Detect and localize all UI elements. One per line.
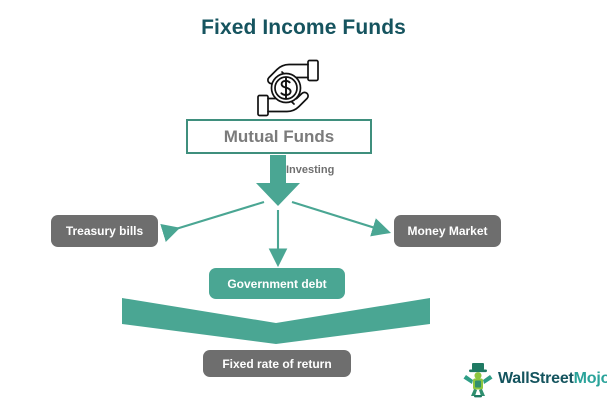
hands-holding-dollar-icon bbox=[252, 57, 324, 119]
logo-text: WallStreetMojo bbox=[498, 370, 607, 388]
node-government-debt[interactable]: Government debt bbox=[209, 268, 345, 299]
node-money-market-label: Money Market bbox=[407, 224, 487, 238]
node-treasury-bills-label: Treasury bills bbox=[66, 224, 143, 238]
connector-label-investing: Investing bbox=[286, 164, 334, 176]
logo-text-primary: WallStreet bbox=[498, 370, 574, 387]
node-fixed-rate-of-return[interactable]: Fixed rate of return bbox=[203, 350, 351, 377]
wallstreetmojo-logo[interactable]: WallStreetMojo bbox=[461, 361, 601, 399]
node-fixed-rate-of-return-label: Fixed rate of return bbox=[222, 357, 331, 371]
page-title: Fixed Income Funds bbox=[0, 16, 607, 40]
node-government-debt-label: Government debt bbox=[227, 277, 326, 291]
node-mutual-funds[interactable]: Mutual Funds bbox=[186, 119, 372, 154]
node-treasury-bills[interactable]: Treasury bills bbox=[51, 215, 158, 247]
wallstreetmojo-mascot-icon bbox=[461, 362, 495, 398]
node-mutual-funds-label: Mutual Funds bbox=[224, 127, 334, 147]
logo-text-secondary: Mojo bbox=[574, 370, 607, 387]
diagram-canvas: Fixed Income Funds bbox=[0, 0, 607, 406]
node-money-market[interactable]: Money Market bbox=[394, 215, 501, 247]
chevron-down-shape bbox=[122, 296, 430, 344]
